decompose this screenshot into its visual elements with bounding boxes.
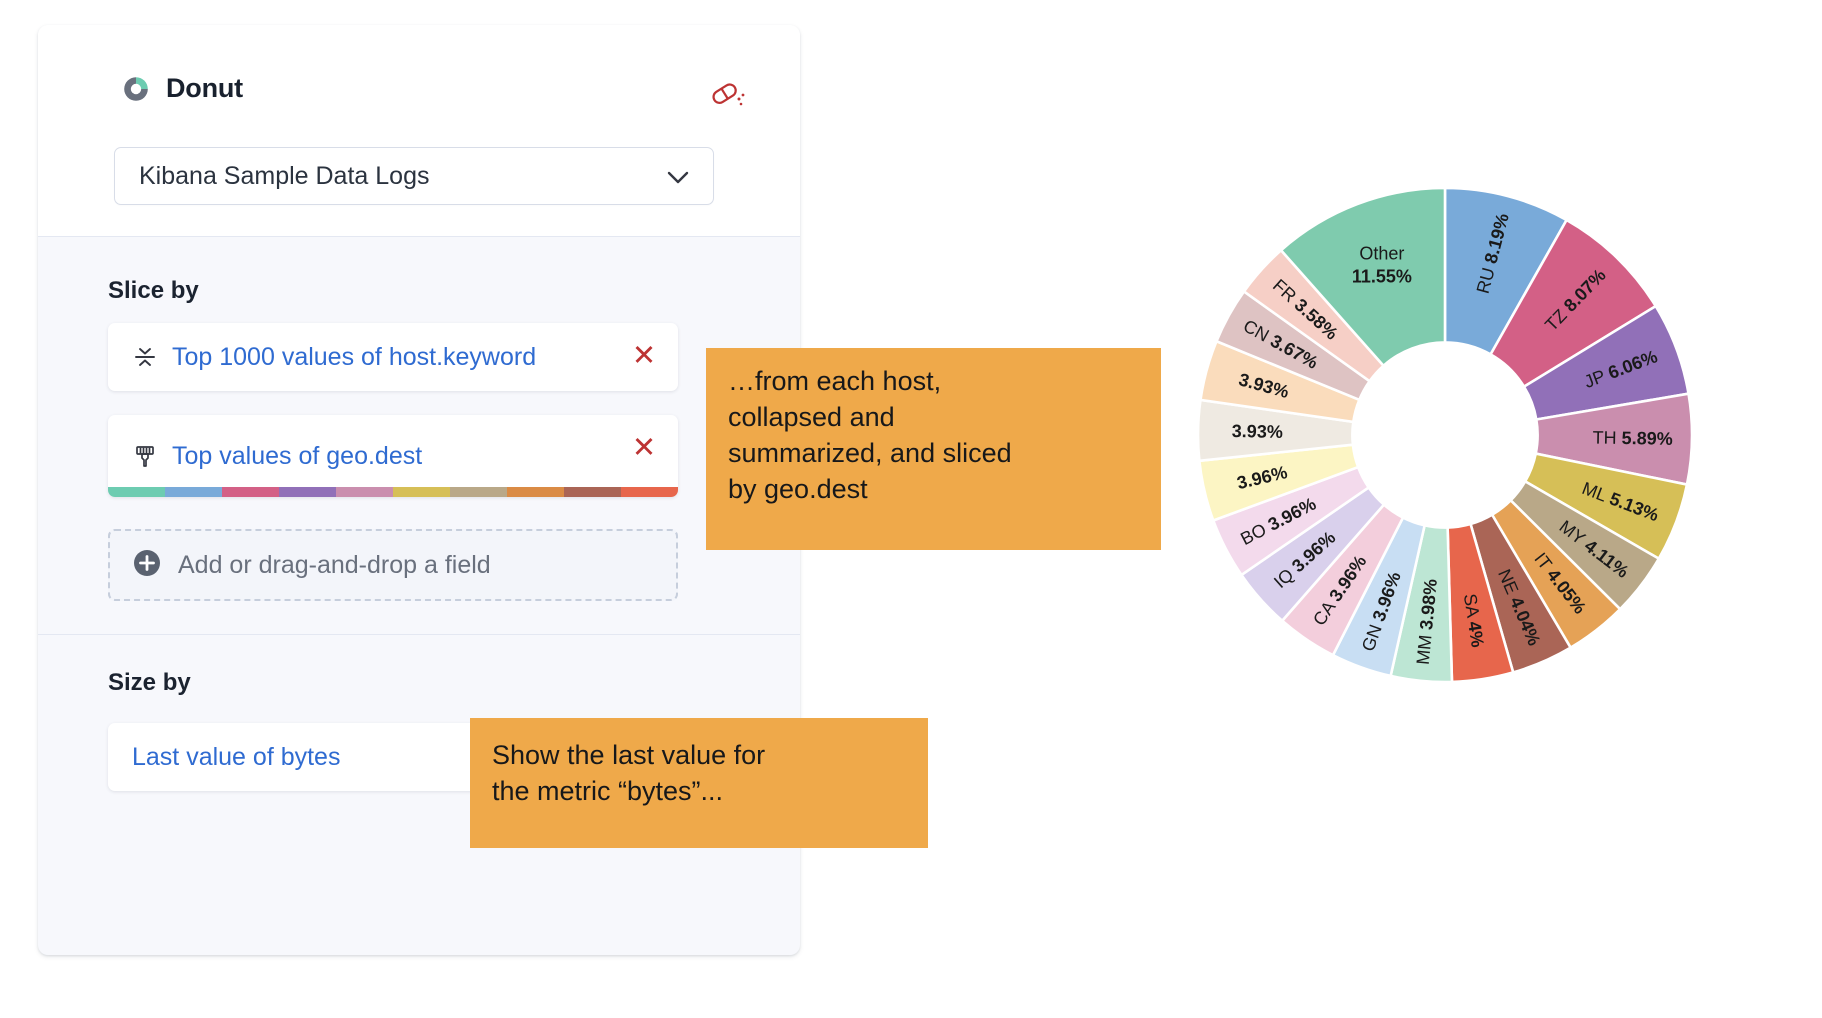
svg-text:3.93%: 3.93%: [1232, 421, 1283, 442]
datasource-select[interactable]: Kibana Sample Data Logs: [114, 147, 714, 205]
donut-slice-label: 3.93%: [1232, 421, 1283, 442]
chevron-down-icon: [665, 164, 691, 195]
collapse-by-icon: [132, 344, 158, 370]
palette-swatch: [165, 487, 222, 497]
slice-by-label: Slice by: [108, 277, 199, 305]
palette-swatch: [279, 487, 336, 497]
slice-by-field-geo-dest-label: Top values of geo.dest: [172, 442, 422, 471]
palette-swatch: [222, 487, 279, 497]
panel-header: Donut Kibana Sample Data Logs: [38, 25, 800, 237]
slice-by-field-host-keyword[interactable]: Top 1000 values of host.keyword ✕: [108, 323, 678, 391]
size-by-callout: Show the last value for the metric “byte…: [470, 718, 928, 848]
datasource-value: Kibana Sample Data Logs: [139, 162, 429, 191]
donut-chart-svg: RU 8.19%TZ 8.07%JP 6.06%TH 5.89%ML 5.13%…: [1155, 145, 1735, 725]
slice-by-callout: …from each host, collapsed and summarize…: [706, 348, 1161, 550]
palette-swatch: [621, 487, 678, 497]
svg-text:Other: Other: [1359, 244, 1404, 264]
palette-swatch: [393, 487, 450, 497]
callout-line: Show the last value for: [492, 738, 906, 774]
add-circle-icon: [132, 548, 162, 583]
slice-by-section: Slice by Top 1000 values of host.keyword…: [38, 237, 800, 635]
svg-text:TH 5.89%: TH 5.89%: [1593, 428, 1673, 449]
palette-swatch: [336, 487, 393, 497]
callout-line: …from each host,: [728, 364, 1139, 400]
palette-brush-icon: [132, 443, 158, 469]
size-by-label: Size by: [108, 669, 191, 697]
svg-text:11.55%: 11.55%: [1352, 267, 1412, 287]
palette-swatch: [564, 487, 621, 497]
donut-chart[interactable]: RU 8.19%TZ 8.07%JP 6.06%TH 5.89%ML 5.13%…: [1155, 145, 1735, 725]
slice-by-field-geo-dest[interactable]: Top values of geo.dest ✕: [108, 415, 678, 497]
callout-line: summarized, and sliced: [728, 436, 1139, 472]
eraser-icon[interactable]: [708, 77, 748, 111]
page-title: Donut: [166, 73, 243, 104]
callout-line: the metric “bytes”...: [492, 774, 906, 810]
donut-slice-label: TH 5.89%: [1593, 428, 1673, 449]
size-by-field-bytes-label: Last value of bytes: [132, 743, 340, 772]
palette-swatch: [108, 487, 165, 497]
slice-by-field-host-keyword-label: Top 1000 values of host.keyword: [172, 343, 536, 372]
close-icon[interactable]: ✕: [628, 432, 660, 464]
add-field-dropzone[interactable]: Add or drag-and-drop a field: [108, 529, 678, 601]
callout-line: collapsed and: [728, 400, 1139, 436]
palette-swatch: [507, 487, 564, 497]
close-icon[interactable]: ✕: [628, 340, 660, 372]
donut-chart-icon: [122, 75, 150, 103]
palette-swatch: [450, 487, 507, 497]
add-field-dropzone-label: Add or drag-and-drop a field: [178, 551, 491, 580]
callout-line: by geo.dest: [728, 472, 1139, 508]
palette-preview-bar: [108, 487, 678, 497]
panel-title-row: Donut: [122, 73, 243, 104]
